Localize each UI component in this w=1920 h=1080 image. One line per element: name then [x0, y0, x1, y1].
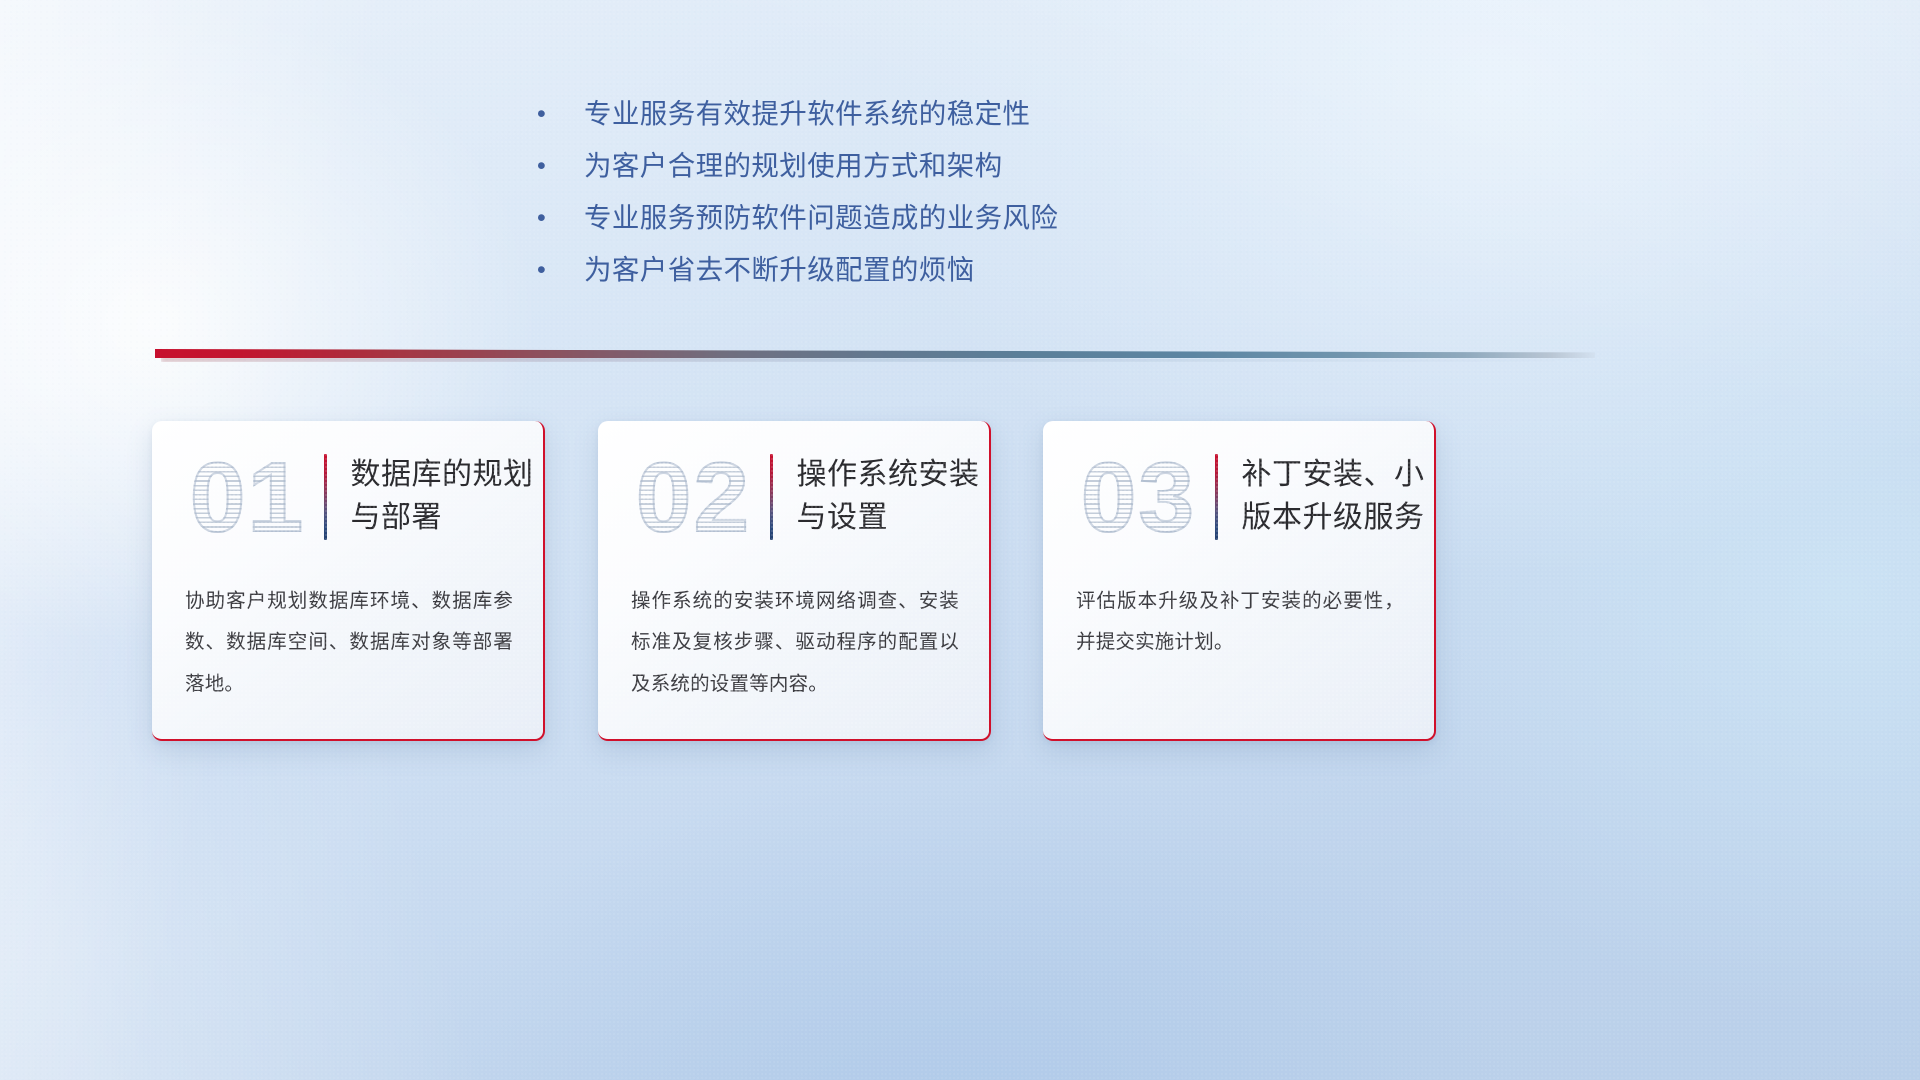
card-header: 02 操作系统安装 与设置 [598, 421, 989, 573]
bullet-text: 专业服务有效提升软件系统的稳定性 [584, 88, 1030, 140]
card-number-watermark: 02 [620, 448, 768, 546]
service-card-01[interactable]: 01 数据库的规划 与部署 协助客户规划数据库环境、数据库参数、数据库空间、数据… [152, 421, 545, 741]
bullet-marker-icon: • [537, 192, 551, 244]
bullet-text: 专业服务预防软件问题造成的业务风险 [584, 192, 1058, 244]
benefits-bullet-list: • 专业服务有效提升软件系统的稳定性 • 为客户合理的规划使用方式和架构 • 专… [537, 88, 1058, 296]
section-divider [155, 349, 1595, 363]
card-accent-rule [324, 454, 327, 540]
service-card-03[interactable]: 03 补丁安装、小 版本升级服务 评估版本升级及补丁安装的必要性，并提交实施计划… [1043, 421, 1436, 741]
card-title: 数据库的规划 与部署 [351, 454, 534, 539]
bullet-text: 为客户省去不断升级配置的烦恼 [584, 244, 975, 296]
card-description: 协助客户规划数据库环境、数据库参数、数据库空间、数据库对象等部署落地。 [152, 573, 543, 705]
card-number-watermark: 01 [174, 448, 322, 546]
bullet-marker-icon: • [537, 244, 551, 296]
slide-canvas: • 专业服务有效提升软件系统的稳定性 • 为客户合理的规划使用方式和架构 • 专… [0, 0, 1920, 1080]
card-number: 03 [1077, 448, 1200, 546]
service-card-02[interactable]: 02 操作系统安装 与设置 操作系统的安装环境网络调查、安装标准及复核步骤、驱动… [598, 421, 991, 741]
card-accent-rule [770, 454, 773, 540]
list-item: • 为客户省去不断升级配置的烦恼 [537, 244, 1058, 296]
card-description: 操作系统的安装环境网络调查、安装标准及复核步骤、驱动程序的配置以及系统的设置等内… [598, 573, 989, 705]
card-accent-rule [1215, 454, 1218, 540]
card-title: 补丁安装、小 版本升级服务 [1242, 454, 1425, 539]
list-item: • 专业服务有效提升软件系统的稳定性 [537, 88, 1058, 140]
card-description: 评估版本升级及补丁安装的必要性，并提交实施计划。 [1043, 573, 1434, 664]
card-number: 01 [186, 448, 309, 546]
list-item: • 为客户合理的规划使用方式和架构 [537, 140, 1058, 192]
bullet-marker-icon: • [537, 88, 551, 140]
bullet-marker-icon: • [537, 140, 551, 192]
card-header: 03 补丁安装、小 版本升级服务 [1043, 421, 1434, 573]
card-number-watermark: 03 [1065, 448, 1213, 546]
bullet-text: 为客户合理的规划使用方式和架构 [584, 140, 1003, 192]
list-item: • 专业服务预防软件问题造成的业务风险 [537, 192, 1058, 244]
card-number: 02 [632, 448, 755, 546]
card-header: 01 数据库的规划 与部署 [152, 421, 543, 573]
card-title: 操作系统安装 与设置 [797, 454, 980, 539]
divider-bar [155, 349, 1595, 358]
